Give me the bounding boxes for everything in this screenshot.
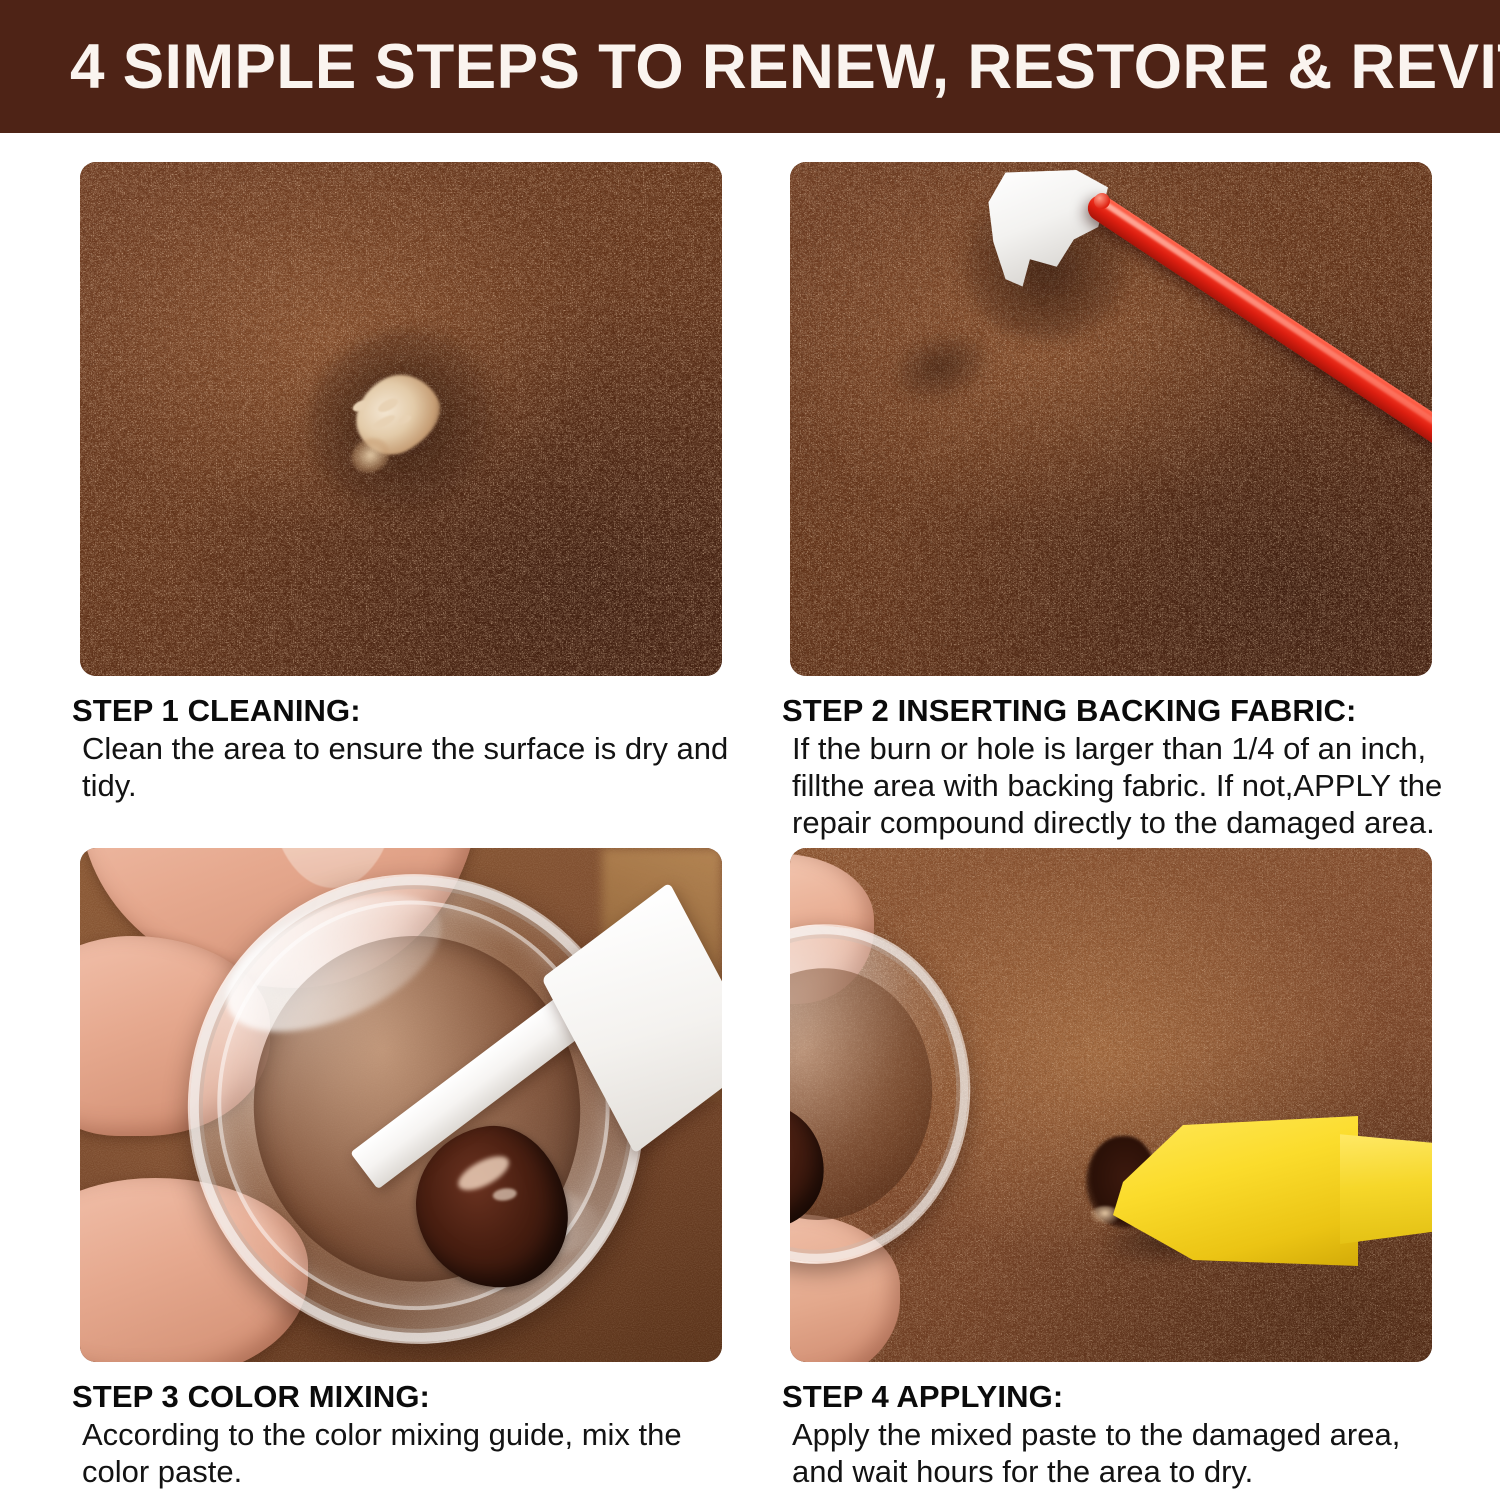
step-1-body: Clean the area to ensure the surface is … xyxy=(72,730,742,804)
paste-sheen-small xyxy=(492,1187,517,1202)
step-4-title: STEP 4 APPLYING: xyxy=(782,1378,1492,1416)
step-4-caption: STEP 4 APPLYING: Apply the mixed paste t… xyxy=(780,1378,1492,1490)
step-3-caption: STEP 3 COLOR MIXING: According to the co… xyxy=(70,1378,782,1490)
step-2-body: If the burn or hole is larger than 1/4 o… xyxy=(782,730,1452,841)
step-2-caption: STEP 2 INSERTING BACKING FABRIC: If the … xyxy=(780,692,1492,841)
step-1-title: STEP 1 CLEANING: xyxy=(72,692,782,730)
step-2-title: STEP 2 INSERTING BACKING FABRIC: xyxy=(782,692,1492,730)
step-4-body: Apply the mixed paste to the damaged are… xyxy=(782,1416,1452,1490)
spatula-handle xyxy=(1340,1132,1432,1244)
step-card-3: STEP 3 COLOR MIXING: According to the co… xyxy=(70,848,782,1490)
step-1-caption: STEP 1 CLEANING: Clean the area to ensur… xyxy=(70,692,782,804)
step-card-1: STEP 1 CLEANING: Clean the area to ensur… xyxy=(70,162,782,804)
step-4-photo xyxy=(790,848,1432,1362)
yellow-spatula xyxy=(1108,1110,1432,1270)
page-title: 4 SIMPLE STEPS TO RENEW, RESTORE & REVIT… xyxy=(70,28,1500,106)
header-banner: 4 SIMPLE STEPS TO RENEW, RESTORE & REVIT… xyxy=(0,0,1500,133)
tool-tip xyxy=(1094,193,1110,209)
step-2-photo xyxy=(790,162,1432,676)
leather-damage-spot xyxy=(321,340,479,493)
step-3-title: STEP 3 COLOR MIXING: xyxy=(72,1378,782,1416)
step-card-4: STEP 4 APPLYING: Apply the mixed paste t… xyxy=(780,848,1492,1490)
step-1-photo xyxy=(80,162,722,676)
step-3-body: According to the color mixing guide, mix… xyxy=(72,1416,742,1490)
step-3-photo xyxy=(80,848,722,1362)
steps-grid: STEP 1 CLEANING: Clean the area to ensur… xyxy=(0,133,1500,1483)
step-card-2: STEP 2 INSERTING BACKING FABRIC: If the … xyxy=(780,162,1492,841)
